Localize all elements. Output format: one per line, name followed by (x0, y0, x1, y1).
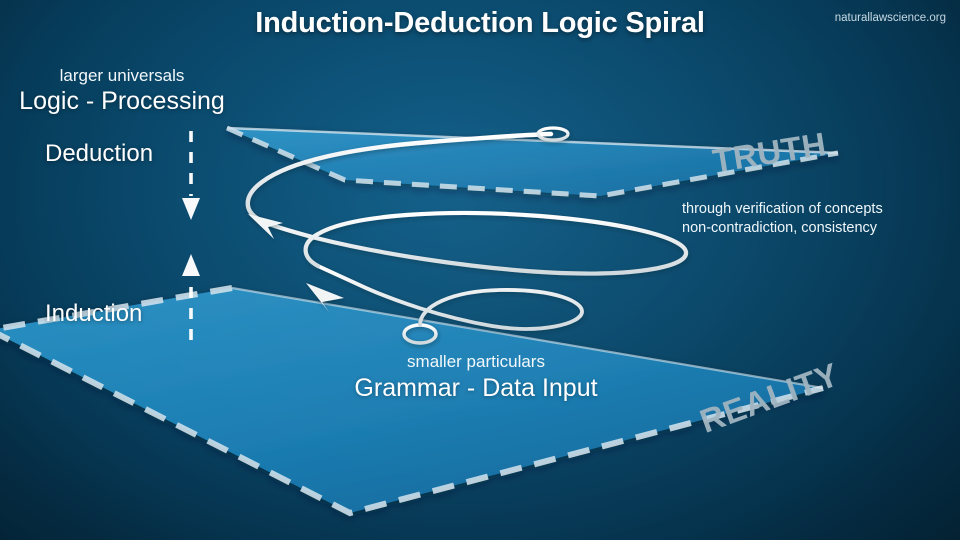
diagram-canvas: Induction-Deduction Logic Spiral natural… (0, 0, 960, 540)
page-title: Induction-Deduction Logic Spiral (0, 7, 960, 40)
annotation-line-1: through verification of concepts (682, 200, 883, 219)
arrow-up-dashed-icon (182, 254, 200, 340)
site-watermark: naturallawscience.org (835, 12, 946, 24)
lower-plane-subtitle-text: smaller particulars (407, 352, 545, 371)
lower-plane-title-text: Grammar - Data Input (354, 374, 597, 402)
upper-plane-subtitle-text: larger universals (60, 66, 185, 85)
arrow-down-dashed-icon (182, 131, 200, 220)
annotation-line-2: non-contradiction, consistency (682, 219, 883, 238)
upper-plane-subtitle: larger universals (0, 66, 960, 86)
induction-label: Induction (45, 300, 142, 328)
upper-plane-title: Logic - Processing (0, 87, 960, 116)
upper-plane-title-text: Logic - Processing (19, 87, 225, 115)
verification-annotation: through verification of concepts non-con… (682, 200, 883, 238)
deduction-label: Deduction (45, 140, 153, 168)
